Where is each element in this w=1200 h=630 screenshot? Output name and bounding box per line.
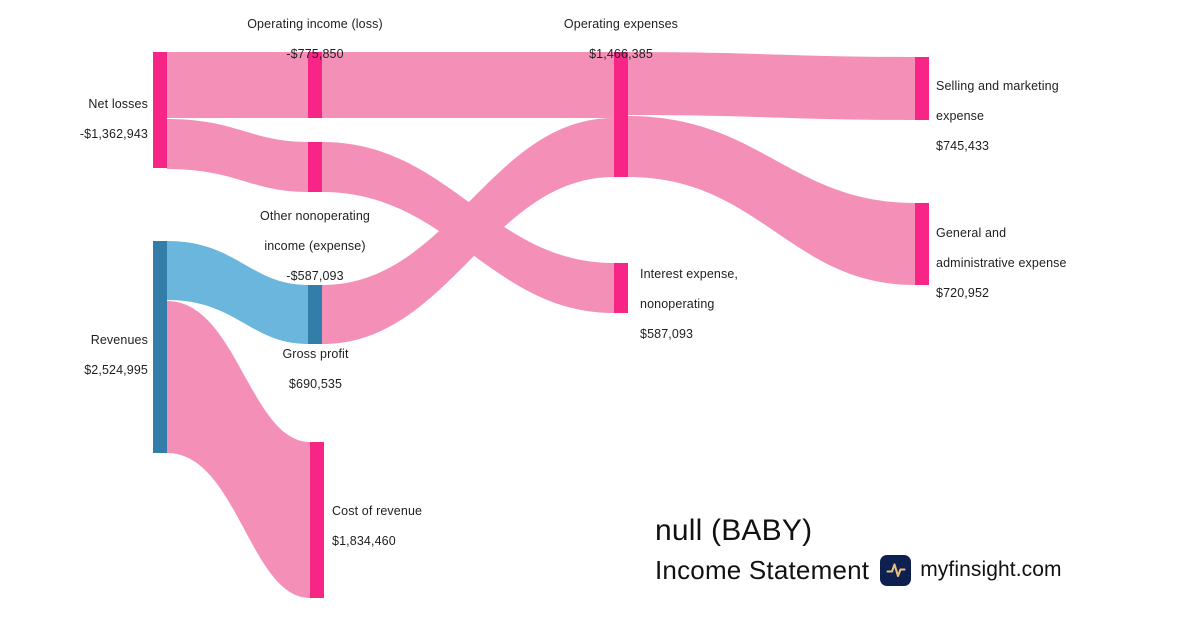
label-net-losses-name: Net losses [0, 97, 148, 112]
label-general-administrative-line1: General and [936, 226, 1191, 241]
node-other-nonoperating[interactable] [308, 142, 322, 192]
statement-type: Income Statement [655, 554, 869, 586]
label-net-losses: Net losses -$1,362,943 [0, 82, 148, 157]
label-cost-of-revenue-value: $1,834,460 [332, 534, 552, 549]
brand-name: myfinsight.com [920, 557, 1061, 583]
label-general-administrative-line2: administrative expense [936, 256, 1191, 271]
chart-footer: null (BABY) Income Statement myfinsight.… [655, 512, 1115, 586]
label-cost-of-revenue: Cost of revenue $1,834,460 [332, 489, 552, 564]
label-interest-expense-value: $587,093 [640, 327, 870, 342]
pulse-icon [880, 555, 911, 586]
label-general-administrative-value: $720,952 [936, 286, 1191, 301]
label-operating-expenses: Operating expenses $1,466,385 [496, 2, 746, 77]
label-cost-of-revenue-name: Cost of revenue [332, 504, 552, 519]
node-selling-marketing[interactable] [915, 57, 929, 120]
label-selling-marketing-line2: expense [936, 109, 1186, 124]
label-revenues: Revenues $2,524,995 [0, 318, 148, 393]
node-revenues[interactable] [153, 241, 167, 453]
label-selling-marketing-line1: Selling and marketing [936, 79, 1186, 94]
label-other-nonoperating-line1: Other nonoperating [200, 209, 430, 224]
label-interest-expense-line1: Interest expense, [640, 267, 870, 282]
node-general-administrative[interactable] [915, 203, 929, 285]
label-net-losses-value: -$1,362,943 [0, 127, 148, 142]
label-revenues-value: $2,524,995 [0, 363, 148, 378]
label-gross-profit: Gross profit $690,535 [228, 332, 403, 407]
label-operating-income-value: -$775,850 [190, 47, 440, 62]
node-cost-of-revenue[interactable] [310, 442, 324, 598]
label-general-administrative: General and administrative expense $720,… [936, 211, 1191, 316]
label-other-nonoperating-line2: income (expense) [200, 239, 430, 254]
label-selling-marketing-value: $745,433 [936, 139, 1186, 154]
footer-brand-row: Income Statement myfinsight.com [655, 554, 1115, 586]
sankey-chart: Net losses -$1,362,943 Revenues $2,524,9… [0, 0, 1200, 630]
label-operating-income-name: Operating income (loss) [190, 17, 440, 32]
label-other-nonoperating: Other nonoperating income (expense) -$58… [200, 194, 430, 299]
link-net-losses-to-other-nonoperating [167, 119, 308, 192]
label-selling-marketing: Selling and marketing expense $745,433 [936, 64, 1186, 169]
label-interest-expense-line2: nonoperating [640, 297, 870, 312]
node-net-losses[interactable] [153, 52, 167, 168]
node-interest-expense[interactable] [614, 263, 628, 313]
label-operating-income: Operating income (loss) -$775,850 [190, 2, 440, 77]
label-operating-expenses-name: Operating expenses [496, 17, 746, 32]
label-operating-expenses-value: $1,466,385 [496, 47, 746, 62]
label-interest-expense: Interest expense, nonoperating $587,093 [640, 252, 870, 357]
label-gross-profit-name: Gross profit [228, 347, 403, 362]
label-revenues-name: Revenues [0, 333, 148, 348]
label-other-nonoperating-value: -$587,093 [200, 269, 430, 284]
company-name: null (BABY) [655, 512, 1115, 550]
label-gross-profit-value: $690,535 [228, 377, 403, 392]
